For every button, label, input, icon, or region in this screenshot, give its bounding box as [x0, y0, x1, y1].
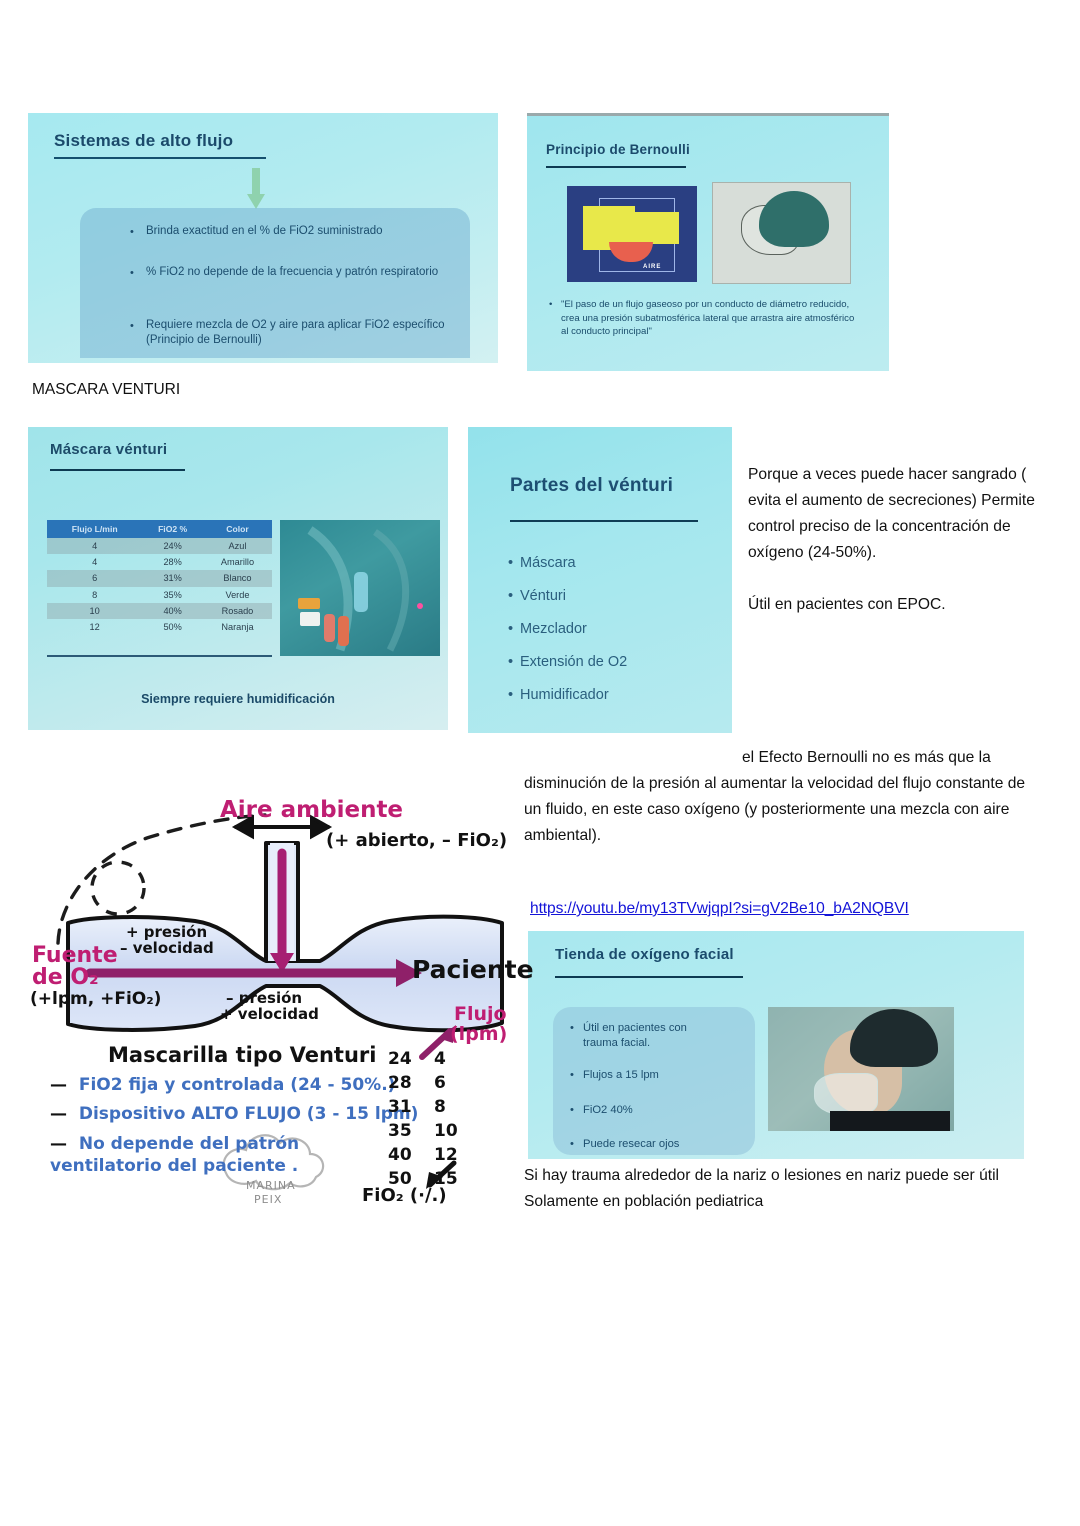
- fio2-value: 28: [388, 1073, 412, 1093]
- bullet-item: • Puede resecar ojos: [583, 1137, 723, 1152]
- title-underline: [555, 976, 743, 978]
- bullet-dot: •: [508, 588, 513, 604]
- youtube-link[interactable]: https://youtu.be/my13TVwjqpI?si=gV2Be10_…: [530, 900, 909, 918]
- table-row: 10 40% Rosado: [47, 603, 272, 619]
- bullet-dot: •: [130, 225, 134, 240]
- venturi-flow-table: Flujo L/min FiO2 % Color 4 24% Azul 4 28…: [47, 520, 272, 635]
- table-row: 4 28% Amarillo: [47, 554, 272, 570]
- note-epoc-text: Porque a veces puede hacer sangrado ( ev…: [748, 466, 1035, 561]
- flujo-value: 12: [434, 1145, 458, 1165]
- note-epoc-line2: Útil en pacientes con EPOC.: [748, 596, 946, 613]
- bullet-dot: •: [508, 687, 513, 703]
- column-header-fio2: FiO₂ (·/.): [362, 1185, 447, 1206]
- slide-title: Tienda de oxígeno facial: [555, 946, 734, 963]
- flujo-value: 8: [434, 1097, 446, 1117]
- note-bernoulli-effect: el Efecto Bernoulli no es más que la dis…: [524, 745, 1044, 849]
- bullet-item: • % FiO2 no depende de la frecuencia y p…: [146, 265, 446, 280]
- cell-color: Rosado: [203, 603, 272, 619]
- bullet-dot: •: [130, 266, 134, 281]
- cell-flujo: 8: [47, 587, 142, 603]
- bullet-dot: •: [508, 555, 513, 571]
- bullet-item: • Requiere mezcla de O2 y aire para apli…: [146, 318, 458, 348]
- title-underline: [546, 166, 686, 168]
- table-row: 4 24% Azul: [47, 538, 272, 554]
- label-velocidad-alta: + velocidad: [220, 1005, 319, 1023]
- table-bottom-rule: [47, 655, 272, 657]
- air-swirl-circle: [92, 862, 144, 914]
- list-item: • Máscara: [520, 555, 576, 571]
- slide-title: Principio de Bernoulli: [546, 142, 690, 157]
- cell-flujo: 4: [47, 538, 142, 554]
- cell-fio2: 31%: [142, 570, 203, 586]
- bullet-dot: •: [570, 1103, 574, 1118]
- illustration-hair: [759, 191, 829, 247]
- venturi-kit-illustration: [280, 520, 440, 656]
- title-underline: [54, 157, 266, 159]
- list-item: • Humidificador: [520, 687, 609, 703]
- handwritten-bullet: — FiO2 fija y controlada (24 - 50%.): [50, 1075, 395, 1095]
- cell-flujo: 12: [47, 619, 142, 635]
- bullet-item: • Útil en pacientes con trauma facial.: [583, 1021, 723, 1051]
- cell-fio2: 35%: [142, 587, 203, 603]
- slide-sistemas-alto-flujo: Sistemas de alto flujo • Brinda exactitu…: [28, 113, 498, 363]
- flujo-value: 10: [434, 1121, 458, 1141]
- patient-mask-photo: [768, 1007, 954, 1131]
- note-epoc: Porque a veces puede hacer sangrado ( ev…: [748, 462, 1048, 618]
- title-underline: [50, 469, 185, 471]
- bullet-dot: •: [508, 654, 513, 670]
- list-item: • Extensión de O2: [520, 654, 627, 670]
- label-paciente: Paciente: [412, 955, 534, 984]
- slide-title: Máscara vénturi: [50, 441, 167, 458]
- handwritten-venturi-diagram: Aire ambiente (+ abierto, – FiO₂) Fuente…: [30, 775, 520, 1245]
- bullet-item: • FiO2 40%: [583, 1103, 723, 1118]
- patient-illustration-image: [712, 182, 851, 284]
- slide-principio-bernoulli: Principio de Bernoulli AIRE • "El paso d…: [527, 113, 889, 371]
- venturi-kit-photo: [280, 520, 440, 656]
- table-row: 8 35% Verde: [47, 587, 272, 603]
- bullet-item: • Flujos a 15 lpm: [583, 1068, 723, 1083]
- table-row: 12 50% Naranja: [47, 619, 272, 635]
- flujo-value: 4: [434, 1049, 446, 1069]
- dash-icon: —: [50, 1075, 73, 1095]
- column-header-color: Color: [203, 520, 272, 538]
- slide-title: Sistemas de alto flujo: [54, 131, 233, 151]
- slide-tienda-oxigeno-facial: Tienda de oxígeno facial • Útil en pacie…: [528, 931, 1024, 1159]
- slide-title: Partes del vénturi: [510, 475, 673, 497]
- column-header-fio2: FiO2 %: [142, 520, 203, 538]
- photo-oxygen-mask: [814, 1073, 878, 1115]
- watermark-line1: MARINA: [246, 1179, 296, 1192]
- dash-icon: —: [50, 1104, 73, 1124]
- slide-partes-venturi: Partes del vénturi • Máscara • Vénturi •…: [468, 427, 732, 733]
- bullet-dot: •: [130, 319, 134, 334]
- venturi-schematic-image: AIRE: [567, 186, 697, 282]
- title-underline: [510, 520, 698, 522]
- list-item: • Vénturi: [520, 588, 566, 604]
- cell-fio2: 24%: [142, 538, 203, 554]
- schematic-aire-label: AIRE: [643, 264, 661, 270]
- note-trauma: Si hay trauma alrededor de la nariz o le…: [524, 1163, 1044, 1215]
- notes-page: Sistemas de alto flujo • Brinda exactitu…: [0, 0, 1080, 1526]
- flujo-value: 6: [434, 1073, 446, 1093]
- cell-color: Verde: [203, 587, 272, 603]
- bullet-dot: •: [508, 621, 513, 637]
- column-header-flujo: Flujo L/min: [47, 520, 142, 538]
- table-row: 6 31% Blanco: [47, 570, 272, 586]
- page-heading: MASCARA VENTURI: [32, 381, 180, 399]
- bullet-dot: •: [570, 1068, 574, 1083]
- bullet-item: • Brinda exactitud en el % de FiO2 sumin…: [146, 224, 456, 239]
- cell-fio2: 50%: [142, 619, 203, 635]
- cell-color: Azul: [203, 538, 272, 554]
- list-item: • Mezclador: [520, 621, 587, 637]
- cell-flujo: 4: [47, 554, 142, 570]
- dash-icon: —: [50, 1134, 73, 1154]
- label-fuente-o2: de O₂: [32, 965, 99, 990]
- bullet-dot: •: [570, 1021, 574, 1036]
- photo-shirt: [830, 1111, 950, 1131]
- handwritten-bullet: — Dispositivo ALTO FLUJO (3 - 15 lpm): [50, 1104, 418, 1124]
- fio2-value: 24: [388, 1049, 412, 1069]
- slide-mascara-venturi: Máscara vénturi Flujo L/min FiO2 % Color…: [28, 427, 448, 730]
- cell-color: Blanco: [203, 570, 272, 586]
- cell-flujo: 10: [47, 603, 142, 619]
- table-header-row: Flujo L/min FiO2 % Color: [47, 520, 272, 538]
- handwritten-bullet: — No depende del patrón ventilatorio del…: [50, 1133, 390, 1177]
- quote-text: • "El paso de un flujo gaseoso por un co…: [561, 298, 861, 339]
- slide-footer: Siempre requiere humidificación: [28, 692, 448, 706]
- handwritten-title: Mascarilla tipo Venturi: [108, 1043, 376, 1067]
- label-aire-ambiente: Aire ambiente: [220, 797, 403, 823]
- cell-color: Naranja: [203, 619, 272, 635]
- cell-color: Amarillo: [203, 554, 272, 570]
- cell-flujo: 6: [47, 570, 142, 586]
- label-abierto-fio2: (+ abierto, – FiO₂): [326, 830, 507, 851]
- label-fuente-lpm-fio2: (+lpm, +FiO₂): [30, 989, 161, 1009]
- cell-fio2: 28%: [142, 554, 203, 570]
- fio2-value: 35: [388, 1121, 412, 1141]
- watermark-line2: PEIX: [254, 1193, 282, 1206]
- fio2-value: 31: [388, 1097, 412, 1117]
- label-velocidad-baja: – velocidad: [120, 939, 214, 957]
- column-header-flujo-unit: (lpm): [450, 1023, 507, 1045]
- fio2-value: 40: [388, 1145, 412, 1165]
- bullet-dot: •: [549, 298, 552, 312]
- column-header-flujo: Flujo: [454, 1003, 507, 1025]
- cell-fio2: 40%: [142, 603, 203, 619]
- bullet-dot: •: [570, 1137, 574, 1152]
- photo-hair: [850, 1009, 938, 1067]
- down-arrow-icon: [246, 168, 266, 210]
